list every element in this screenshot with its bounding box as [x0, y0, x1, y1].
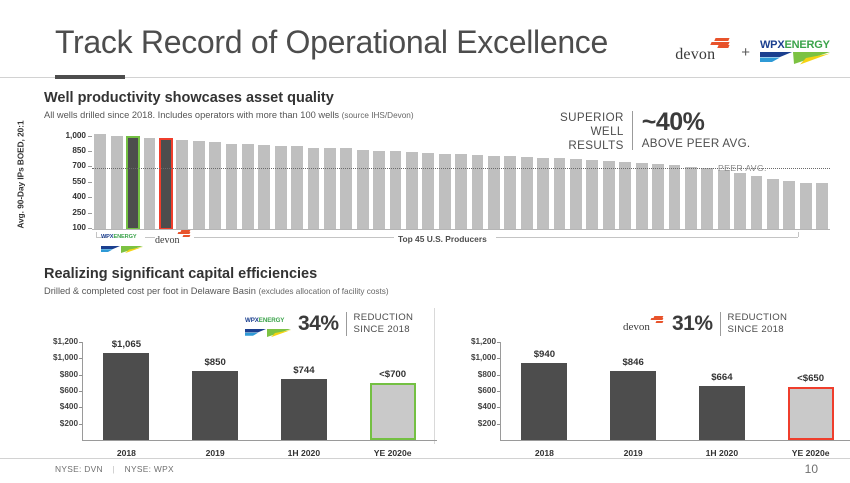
chart1-bar-slot — [781, 130, 797, 230]
chart1-bar-slot — [190, 130, 206, 230]
superior-results-callout: SUPERIOR WELL RESULTS ~40% ABOVE PEER AV… — [560, 110, 750, 153]
devon-logo: devon — [675, 38, 731, 66]
chart1-bar-slot — [469, 130, 485, 230]
panel-divider — [434, 308, 435, 444]
cost-chart-bar-estimate — [370, 383, 416, 440]
cost-chart-ytick: $800 — [40, 370, 78, 379]
cost-chart-ytick: $1,200 — [40, 337, 78, 346]
chart1-bar-slot — [223, 130, 239, 230]
chart1-bar — [357, 150, 369, 230]
chart1-bar — [669, 165, 681, 230]
chart1-bar — [193, 141, 205, 230]
cost-chart-value-label: <$700 — [353, 369, 433, 380]
cost-chart-baseline — [500, 440, 850, 441]
chart1-bar-slot — [502, 130, 518, 230]
wpx-chevron-icon — [760, 52, 830, 65]
callout-line-2: WELL — [560, 125, 624, 139]
cost-chart-category-label: 2018 — [86, 448, 166, 458]
chart1-bar — [685, 167, 697, 230]
cost-chart-baseline — [82, 440, 437, 441]
cost-chart-ytick: $400 — [40, 402, 78, 411]
cost-chart-ytick-mark — [497, 407, 501, 408]
cost-chart-bar-estimate — [788, 387, 834, 440]
wpx-bracket-text-energy: ENERGY — [113, 234, 136, 240]
wpx-logo-text: WPXENERGY — [760, 39, 830, 51]
chart1-ytick: 1,000 — [52, 131, 86, 140]
chart1-bar — [111, 136, 123, 230]
chart1-bar-highlight-wpx — [126, 136, 140, 230]
cost-chart-bar — [103, 353, 149, 440]
cost-chart-bar — [281, 379, 327, 440]
chart1-bar-slot — [207, 130, 223, 230]
chart1-bar-slot — [437, 130, 453, 230]
wpx-bracket-text: WPXENERGY — [101, 234, 143, 240]
cost-chart-ytick: $1,000 — [458, 353, 496, 362]
cost-chart-ytick-mark — [497, 375, 501, 376]
cost-chart-value-label: $744 — [264, 365, 344, 376]
callout-label: SUPERIOR WELL RESULTS — [560, 110, 632, 153]
cost-chart-ytick-mark — [79, 342, 83, 343]
chart1-bar — [422, 153, 434, 230]
header-divider — [0, 77, 850, 78]
cost-chart-bar — [699, 386, 745, 440]
section1-title: Well productivity showcases asset qualit… — [44, 90, 334, 106]
section2-title: Realizing significant capital efficienci… — [44, 266, 317, 282]
chart1-ytick-mark — [88, 213, 92, 214]
wpx-logo-text-energy: ENERGY — [784, 39, 829, 51]
chart1-bar-slot — [240, 130, 256, 230]
chart1-bar — [603, 161, 615, 230]
slide-header: Track Record of Operational Excellence d… — [0, 0, 850, 78]
chart1-bar-slot — [453, 130, 469, 230]
devon-cost-chart: $1,200$1,000$800$600$400$200$9402018$846… — [448, 306, 848, 456]
chart1-bar-highlight-devon — [159, 138, 173, 230]
chart1-bar — [209, 142, 221, 230]
header-accent-bar — [55, 75, 125, 79]
cost-chart-ytick-mark — [79, 358, 83, 359]
chart1-ytick: 850 — [52, 146, 86, 155]
chart1-baseline — [92, 229, 830, 230]
cost-chart-ytick-mark — [79, 407, 83, 408]
devon-cost-panel: devon 31% REDUCTION SINCE 2018 $1,200$1,… — [448, 306, 848, 456]
cost-chart-category-label: 2019 — [593, 448, 673, 458]
page-title: Track Record of Operational Excellence — [55, 24, 608, 61]
cost-chart-ytick-mark — [497, 391, 501, 392]
chart1-ytick: 700 — [52, 161, 86, 170]
cost-chart-ytick-mark — [79, 391, 83, 392]
section2-subtitle-text: Drilled & completed cost per foot in Del… — [44, 286, 256, 296]
chart1-bar — [291, 146, 303, 230]
section2-subtitle-note: (excludes allocation of facility costs) — [258, 287, 388, 296]
cost-chart-ytick-mark — [79, 424, 83, 425]
callout-caption: ABOVE PEER AVG. — [642, 137, 751, 150]
chart1-bar — [144, 138, 156, 230]
chart1-bar — [652, 164, 664, 230]
chart1-ytick-mark — [88, 182, 92, 183]
chart1-y-axis-title: Avg. 90-Day IPs BOED, 20:1 — [17, 120, 26, 230]
cost-chart-bar — [192, 371, 238, 440]
chart1-bar-slot — [814, 130, 830, 230]
chart1-bar — [488, 156, 500, 230]
cost-chart-ytick-mark — [79, 375, 83, 376]
wpx-bracket-logo: WPXENERGY — [101, 234, 143, 247]
chart1-bar-slot — [765, 130, 781, 230]
chart1-bar — [734, 173, 746, 230]
wpx-logo-text-wpx: WPX — [760, 39, 784, 51]
chart1-bar-slot — [92, 130, 108, 230]
chart1-bar-slot — [272, 130, 288, 230]
chart1-bar-slot — [158, 130, 174, 230]
wpx-cost-panel: WPXENERGY 34% REDUCTION SINCE 2018 $1,20… — [30, 306, 430, 456]
chart1-bar — [390, 151, 402, 230]
callout-value-group: ~40% ABOVE PEER AVG. — [633, 110, 751, 153]
wpx-logo: WPXENERGY — [760, 38, 832, 66]
cost-chart-bar — [521, 363, 567, 440]
chart1-bar — [472, 155, 484, 230]
chart1-bar-slot — [338, 130, 354, 230]
section1-subtitle-text: All wells drilled since 2018. Includes o… — [44, 110, 339, 120]
wpx-cost-chart: $1,200$1,000$800$600$400$200$1,0652018$8… — [30, 306, 430, 456]
chart1-bar-slot — [535, 130, 551, 230]
cost-chart-value-label: $940 — [504, 349, 584, 360]
cost-chart-ytick: $400 — [458, 402, 496, 411]
callout-line-3: RESULTS — [560, 139, 624, 153]
chart1-bar — [504, 156, 516, 230]
chart1-bar — [783, 181, 795, 230]
section1-subtitle: All wells drilled since 2018. Includes o… — [44, 110, 414, 120]
footer-divider — [0, 458, 850, 459]
chart1-bar — [258, 145, 270, 230]
chart1-bar-slot — [371, 130, 387, 230]
chart1-bar — [340, 148, 352, 230]
section1-subtitle-source: (source IHS/Devon) — [342, 111, 414, 120]
chart1-bar — [406, 152, 418, 230]
chart1-bar-slot — [322, 130, 338, 230]
cost-chart-ytick: $600 — [458, 386, 496, 395]
chart1-bar — [439, 154, 451, 230]
chart1-bar-slot — [305, 130, 321, 230]
section2-subtitle: Drilled & completed cost per foot in Del… — [44, 286, 389, 296]
chart1-bar — [94, 134, 106, 230]
chart1-ytick-mark — [88, 136, 92, 137]
chart1-bar-slot — [256, 130, 272, 230]
chart1-bar — [455, 154, 467, 230]
devon-bracket-logo: devon — [155, 230, 191, 246]
cost-chart-value-label: $664 — [682, 372, 762, 383]
chart1-x-axis-label: Top 45 U.S. Producers — [398, 234, 487, 244]
cost-chart-category-label: 1H 2020 — [264, 448, 344, 458]
devon-logo-text: devon — [675, 46, 715, 64]
chart1-bar — [751, 176, 763, 230]
cost-chart-value-label: <$650 — [771, 373, 850, 384]
chart1-ytick-mark — [88, 166, 92, 167]
cost-chart-value-label: $846 — [593, 357, 673, 368]
chart1-bar-slot — [387, 130, 403, 230]
cost-chart-value-label: $1,065 — [86, 339, 166, 350]
chart1-ytick: 100 — [52, 223, 86, 232]
callout-line-1: SUPERIOR — [560, 111, 624, 125]
chart1-bar — [308, 148, 320, 230]
cost-chart-ytick: $200 — [40, 419, 78, 428]
chart1-bar — [324, 148, 336, 230]
chart1-ytick-mark — [88, 197, 92, 198]
chart1-bar-slot — [404, 130, 420, 230]
cost-chart-category-label: 2018 — [504, 448, 584, 458]
cost-chart-y-axis — [82, 342, 83, 440]
cost-chart-ytick-mark — [497, 358, 501, 359]
chart1-bar — [570, 159, 582, 230]
chart1-bar-slot — [797, 130, 813, 230]
cost-chart-bar — [610, 371, 656, 440]
cost-chart-ytick: $800 — [458, 370, 496, 379]
chart1-bar — [275, 146, 287, 230]
chart1-bar-slot — [125, 130, 141, 230]
plus-icon: + — [739, 44, 752, 61]
cost-chart-ytick: $200 — [458, 419, 496, 428]
ticker-dvn: NYSE: DVN — [55, 464, 103, 474]
cost-chart-ytick: $1,200 — [458, 337, 496, 346]
cost-chart-category-label: 1H 2020 — [682, 448, 762, 458]
cost-chart-category-label: YE 2020e — [353, 448, 433, 458]
cost-chart-ytick-mark — [497, 424, 501, 425]
cost-chart-category-label: 2019 — [175, 448, 255, 458]
cost-chart-y-axis — [500, 342, 501, 440]
wpx-bracket-text-wpx: WPX — [101, 234, 113, 240]
chart1-ytick: 250 — [52, 208, 86, 217]
footer-tickers: NYSE: DVN | NYSE: WPX — [55, 464, 174, 474]
chart1-bar — [816, 183, 828, 230]
chart1-bar-slot — [748, 130, 764, 230]
chart1-bar — [176, 140, 188, 230]
chart1-bar — [373, 151, 385, 230]
ticker-wpx: NYSE: WPX — [125, 464, 174, 474]
cost-chart-ytick: $600 — [40, 386, 78, 395]
cost-chart-category-label: YE 2020e — [771, 448, 850, 458]
chart1-bar — [718, 170, 730, 230]
peer-average-label: PEER AVG. — [718, 163, 767, 173]
chart1-y-axis: 1,000850700550400250100 — [52, 128, 86, 230]
cost-chart-ytick: $1,000 — [40, 353, 78, 362]
chart1-bar-slot — [289, 130, 305, 230]
cost-chart-value-label: $850 — [175, 357, 255, 368]
chart1-bar-slot — [486, 130, 502, 230]
wpx-bracket-chevron-icon — [101, 246, 143, 253]
page-number: 10 — [805, 462, 818, 476]
chart1-bar — [701, 168, 713, 230]
chart1-bar-slot — [174, 130, 190, 230]
chart1-bar — [636, 163, 648, 230]
chart1-bar-slot — [420, 130, 436, 230]
chart1-bar — [619, 162, 631, 230]
chart1-bar-slot — [141, 130, 157, 230]
callout-percentage: ~40% — [642, 110, 751, 135]
chart1-bar — [586, 160, 598, 230]
chart1-ytick: 400 — [52, 192, 86, 201]
chart1-bar-slot — [519, 130, 535, 230]
chart1-bar — [226, 144, 238, 230]
logo-group: devon + WPXENERGY — [675, 38, 832, 66]
chart1-bar-slot — [355, 130, 371, 230]
cost-chart-ytick-mark — [497, 342, 501, 343]
chart1-bar-slot — [108, 130, 124, 230]
ticker-separator: | — [105, 464, 121, 474]
chart1-bar — [242, 144, 254, 230]
devon-bracket-text: devon — [155, 235, 179, 246]
chart1-bar — [767, 179, 779, 230]
chart1-ytick: 550 — [52, 177, 86, 186]
chart1-ytick-mark — [88, 151, 92, 152]
chart1-bar — [800, 183, 812, 230]
